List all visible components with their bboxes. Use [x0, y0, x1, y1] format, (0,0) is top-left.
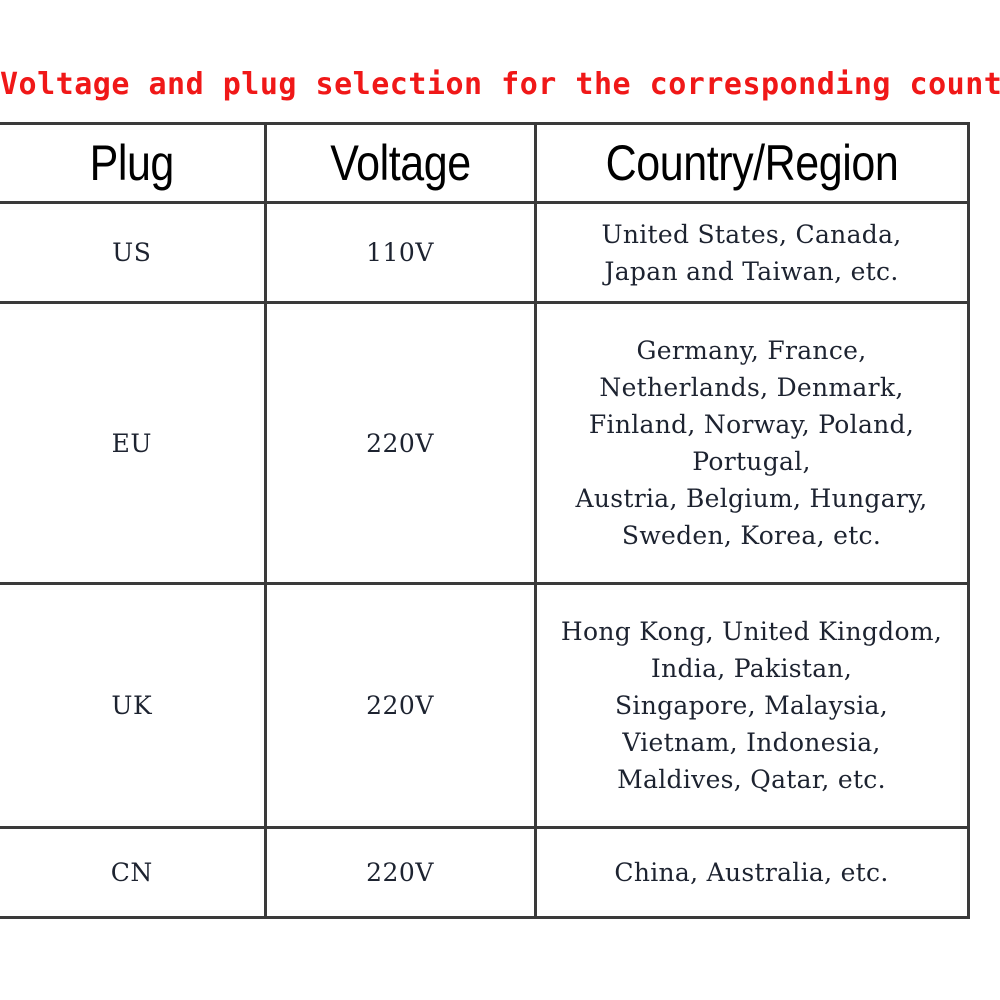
- country-line: Hong Kong, United Kingdom,: [547, 613, 957, 650]
- column-header-voltage-label: Voltage: [285, 136, 515, 190]
- country-line: Maldives, Qatar, etc.: [547, 761, 957, 798]
- country-line-list: Hong Kong, United Kingdom,India, Pakista…: [547, 613, 957, 798]
- cell-plug: CN: [0, 828, 265, 918]
- country-line: India, Pakistan,: [547, 650, 957, 687]
- country-line: Finland, Norway, Poland,: [547, 406, 957, 443]
- country-line: Vietnam, Indonesia,: [547, 724, 957, 761]
- country-line: Austria, Belgium, Hungary,: [547, 480, 957, 517]
- table-header: Plug Voltage Country/Region: [0, 124, 968, 203]
- country-line: Portugal,: [547, 443, 957, 480]
- cell-plug: UK: [0, 584, 265, 828]
- table-row: UK 220V Hong Kong, United Kingdom,India,…: [0, 584, 968, 828]
- table-row: US 110V United States, Canada,Japan and …: [0, 203, 968, 303]
- cell-voltage: 220V: [265, 584, 535, 828]
- country-line: Netherlands, Denmark,: [547, 369, 957, 406]
- cell-country: Hong Kong, United Kingdom,India, Pakista…: [535, 584, 968, 828]
- country-line: Japan and Taiwan, etc.: [547, 253, 957, 290]
- country-line: Singapore, Malaysia,: [547, 687, 957, 724]
- country-line: Sweden, Korea, etc.: [547, 517, 957, 554]
- cell-plug: US: [0, 203, 265, 303]
- column-header-plug-label: Plug: [18, 136, 245, 190]
- country-line-list: China, Australia, etc.: [547, 854, 957, 891]
- cell-voltage: 220V: [265, 303, 535, 584]
- cell-voltage: 110V: [265, 203, 535, 303]
- page-root: Voltage and plug selection for the corre…: [0, 0, 1000, 1000]
- cell-country: China, Australia, etc.: [535, 828, 968, 918]
- country-line: Germany, France,: [547, 332, 957, 369]
- table-header-row: Plug Voltage Country/Region: [0, 124, 968, 203]
- country-line: China, Australia, etc.: [547, 854, 957, 891]
- table-body: US 110V United States, Canada,Japan and …: [0, 203, 968, 918]
- voltage-plug-table: Plug Voltage Country/Region US 110V Unit…: [0, 122, 970, 919]
- column-header-country-label: Country/Region: [567, 136, 937, 190]
- country-line-list: Germany, France,Netherlands, Denmark,Fin…: [547, 332, 957, 554]
- country-line: United States, Canada,: [547, 216, 957, 253]
- column-header-country: Country/Region: [535, 124, 968, 203]
- column-header-voltage: Voltage: [265, 124, 535, 203]
- table-row: CN 220V China, Australia, etc.: [0, 828, 968, 918]
- cell-plug: EU: [0, 303, 265, 584]
- page-title: Voltage and plug selection for the corre…: [0, 68, 952, 102]
- voltage-plug-table-container: Plug Voltage Country/Region US 110V Unit…: [0, 122, 968, 870]
- table-row: EU 220V Germany, France,Netherlands, Den…: [0, 303, 968, 584]
- column-header-plug: Plug: [0, 124, 265, 203]
- country-line-list: United States, Canada,Japan and Taiwan, …: [547, 216, 957, 290]
- cell-voltage: 220V: [265, 828, 535, 918]
- cell-country: Germany, France,Netherlands, Denmark,Fin…: [535, 303, 968, 584]
- cell-country: United States, Canada,Japan and Taiwan, …: [535, 203, 968, 303]
